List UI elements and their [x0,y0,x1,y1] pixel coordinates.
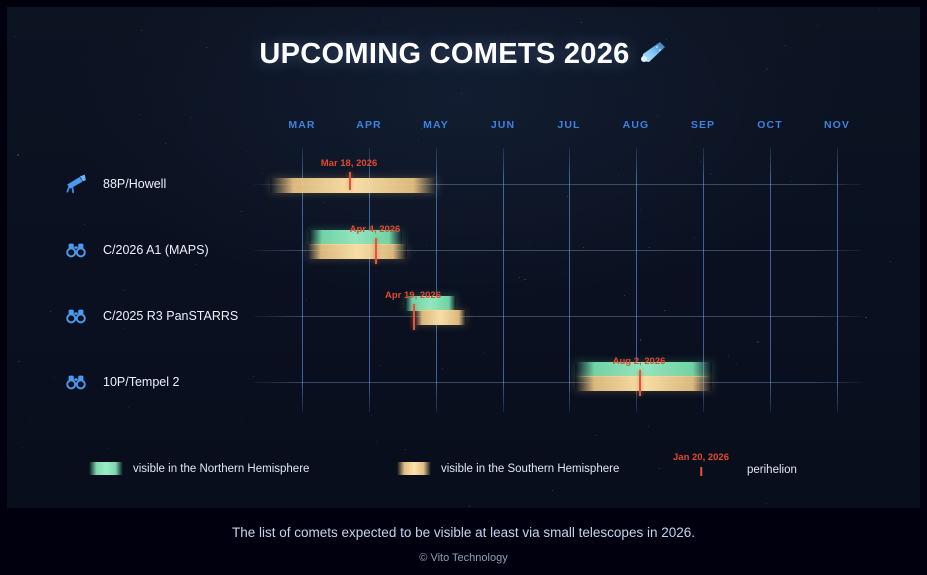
star-icon [879,9,880,10]
star-icon [262,173,263,174]
star-icon [241,421,242,422]
star-icon [426,245,427,246]
gridline-oct [770,148,771,412]
star-icon [376,441,377,442]
star-icon [371,415,372,416]
star-icon [436,406,437,407]
perihelion-tick-icon [700,467,702,476]
star-icon [165,143,166,144]
star-icon [421,128,422,129]
star-icon [492,288,493,289]
infographic-frame: UPCOMING COMETS 2026 MARAPRM [0,0,927,575]
star-icon [624,295,625,296]
star-icon [246,151,247,152]
star-icon [202,492,203,493]
star-icon [123,328,125,330]
binoculars-icon [65,305,87,327]
month-label-nov: NOV [824,119,850,131]
star-icon [835,323,836,324]
star-icon [791,181,792,182]
footer: The list of comets expected to be visibl… [0,508,927,575]
perihelion-date-label: Apr 4, 2026 [350,224,401,235]
star-icon [379,365,380,366]
star-icon [519,277,520,278]
star-icon [640,209,641,210]
comet-icon [638,39,668,73]
comet-name-label[interactable]: C/2025 R3 PanSTARRS [103,309,238,323]
month-label-apr: APR [356,119,381,131]
star-icon [461,93,462,94]
star-icon [418,139,419,140]
telescope-icon [65,173,87,195]
star-icon [301,386,302,387]
star-icon [700,161,701,162]
perihelion-tick-icon [349,172,351,190]
month-label-aug: AUG [623,119,650,131]
legend-perihelion-date: Jan 20, 2026 [673,452,729,463]
star-icon [529,242,530,243]
star-icon [306,299,307,300]
star-icon [405,449,406,450]
perihelion-tick-icon [639,370,641,396]
star-icon [108,332,109,333]
star-icon [469,506,471,508]
visibility-bar-south[interactable] [415,310,466,325]
perihelion-marker-icon: Jan 20, 2026 [671,454,731,480]
page-title-text: UPCOMING COMETS 2026 [259,38,629,70]
star-icon [253,376,254,377]
gridline-nov [837,148,838,412]
perihelion-date-label: Mar 18, 2026 [321,158,378,169]
star-icon [139,114,140,115]
perihelion-date-label: Aug 2, 2026 [613,356,666,367]
star-icon [728,356,729,357]
legend: visible in the Northern Hemisphere visib… [7,462,920,482]
star-icon [141,30,142,31]
star-icon [766,503,767,504]
visibility-bar-south[interactable] [307,244,407,259]
legend-south-label: visible in the Southern Hemisphere [441,463,619,475]
footer-note: The list of comets expected to be visibl… [0,525,927,540]
star-icon [847,90,848,91]
month-label-oct: OCT [757,119,782,131]
perihelion-tick-icon [413,304,415,330]
star-icon [84,224,85,225]
north-swatch-icon [89,462,123,475]
star-icon [415,252,416,253]
star-icon [552,490,553,491]
star-icon [596,435,597,436]
month-label-sep: SEP [691,119,715,131]
star-icon [18,361,20,363]
gridline-jul [569,148,570,412]
legend-north-label: visible in the Northern Hemisphere [133,463,309,475]
perihelion-tick-icon [375,238,377,264]
star-icon [54,377,55,378]
star-icon [241,211,242,212]
star-icon [524,279,526,281]
row-baseline [254,316,862,317]
page-title: UPCOMING COMETS 2026 [7,37,920,71]
star-icon [123,290,124,291]
star-icon [664,310,666,312]
star-icon [22,447,23,448]
star-icon [196,264,197,265]
star-icon [657,116,658,117]
gridline-jun [503,148,504,412]
star-icon [324,202,325,203]
star-icon [567,196,568,197]
star-icon [648,426,649,427]
star-icon [618,175,619,176]
star-icon [710,173,711,174]
legend-item-perihelion: Jan 20, 2026 perihelion [671,454,797,480]
star-icon [442,368,443,369]
star-icon [520,280,521,281]
chart-panel: UPCOMING COMETS 2026 MARAPRM [7,7,920,508]
star-icon [234,297,235,298]
star-icon [322,369,323,370]
binoculars-icon [65,239,87,261]
star-icon [191,117,192,118]
star-icon [484,352,485,353]
legend-item-south: visible in the Southern Hemisphere [397,462,619,475]
binoculars-icon [65,371,87,393]
star-icon [128,407,129,408]
star-icon [581,22,582,23]
legend-item-north: visible in the Northern Hemisphere [89,462,309,475]
star-icon [50,311,51,312]
star-icon [502,238,503,239]
star-icon [17,154,19,156]
perihelion-date-label: Apr 19, 2026 [385,290,441,301]
star-icon [890,261,891,262]
star-icon [759,288,761,290]
star-icon [108,448,109,449]
star-icon [694,237,695,238]
comet-name-label[interactable]: 88P/Howell [103,177,166,191]
month-label-jun: JUN [491,119,515,131]
comet-name-label[interactable]: C/2026 A1 (MAPS) [103,243,209,257]
star-icon [583,247,584,248]
star-icon [645,170,646,171]
star-icon [383,18,384,19]
month-label-jul: JUL [557,119,580,131]
south-swatch-icon [397,462,431,475]
star-icon [817,25,818,26]
chart-grid [7,7,920,508]
star-icon [30,418,31,419]
star-icon [640,339,642,341]
legend-perihelion-label: perihelion [747,464,797,476]
row-baseline [254,382,862,383]
comet-name-label[interactable]: 10P/Tempel 2 [103,375,179,389]
star-icon [125,264,126,265]
star-icon [736,363,737,364]
star-icon [115,195,116,196]
visibility-bar-south[interactable] [270,178,437,193]
visibility-bar-south[interactable] [575,376,712,391]
star-icon [865,317,867,319]
month-label-may: MAY [423,119,449,131]
star-icon [649,247,650,248]
star-icon [757,341,759,343]
starfield [7,7,920,508]
month-label-mar: MAR [288,119,315,131]
footer-copyright: © Vito Technology [0,552,927,564]
